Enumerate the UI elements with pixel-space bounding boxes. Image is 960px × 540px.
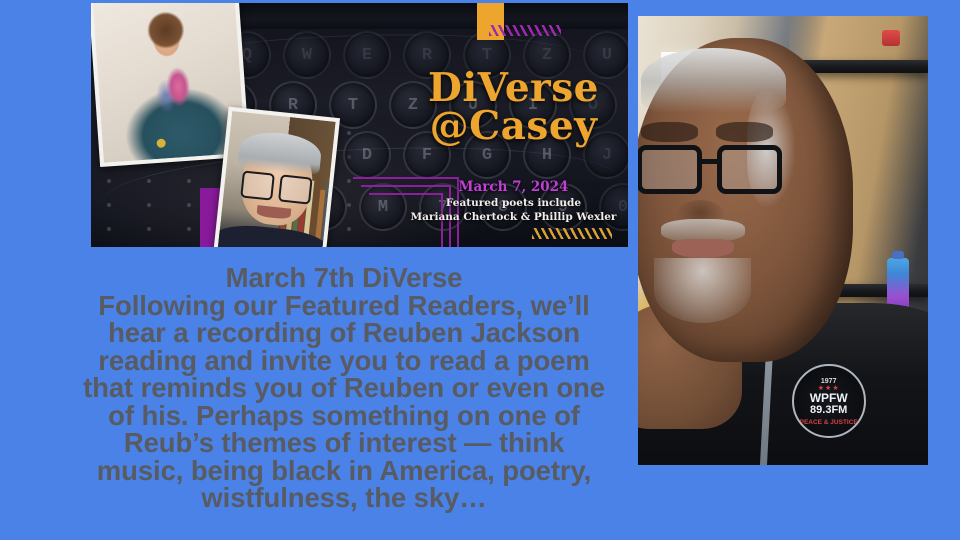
- participant-face: [638, 38, 853, 361]
- flyer-title-line-2: @Casey: [401, 107, 626, 145]
- participant-eyebrow-left: [641, 122, 698, 141]
- rivet-dot: [107, 227, 111, 231]
- flyer-event-date: March 7, 2024: [401, 179, 626, 195]
- rivet-dot: [107, 203, 111, 207]
- typewriter-key: E: [343, 31, 391, 79]
- shared-screen-flyer: QWERTZUI ERTZUIOP ASDFGHJK BNM7890: [91, 3, 628, 247]
- rivet-dot: [187, 227, 191, 231]
- participant-mouth: [672, 239, 734, 258]
- video-participant-tile[interactable]: 1977 ★★★ WPFW 89.3FM PEACE & JUSTICE: [638, 16, 928, 465]
- flyer-featured-poets: Featured poets include Mariana Chertock …: [381, 196, 628, 224]
- typewriter-key: W: [283, 31, 331, 79]
- gold-hatch-stripes: [532, 228, 612, 239]
- rivet-dot: [107, 179, 111, 183]
- rivet-dot: [147, 203, 151, 207]
- patch-frequency: 89.3FM: [810, 405, 847, 417]
- purple-hatch-stripes: [489, 25, 561, 36]
- rivet-dot: [187, 203, 191, 207]
- rivet-dot: [147, 227, 151, 231]
- participant-eyeglasses: [638, 145, 782, 193]
- rivet-dot: [187, 179, 191, 183]
- patch-slogan: PEACE & JUSTICE: [800, 419, 858, 426]
- slide-caption-text: March 7th DiVerse Following our Featured…: [56, 264, 632, 512]
- red-object-on-shelf: [882, 30, 900, 46]
- flyer-featured-names: Mariana Chertock & Phillip Wexler: [381, 210, 628, 224]
- wpfw-radio-patch: 1977 ★★★ WPFW 89.3FM PEACE & JUSTICE: [792, 364, 866, 438]
- flyer-featured-label: Featured poets include: [381, 196, 628, 210]
- poet-photo-man: [212, 107, 340, 247]
- presentation-slide-screen: QWERTZUI ERTZUIOP ASDFGHJK BNM7890: [0, 0, 960, 540]
- woman-portrait-art: [92, 3, 245, 163]
- rivet-dot: [147, 179, 151, 183]
- flyer-title-line-1: DiVerse: [401, 69, 626, 107]
- participant-beard: [654, 258, 751, 323]
- flyer-title: DiVerse @Casey: [401, 69, 626, 145]
- participant-eyebrow-right: [716, 122, 773, 141]
